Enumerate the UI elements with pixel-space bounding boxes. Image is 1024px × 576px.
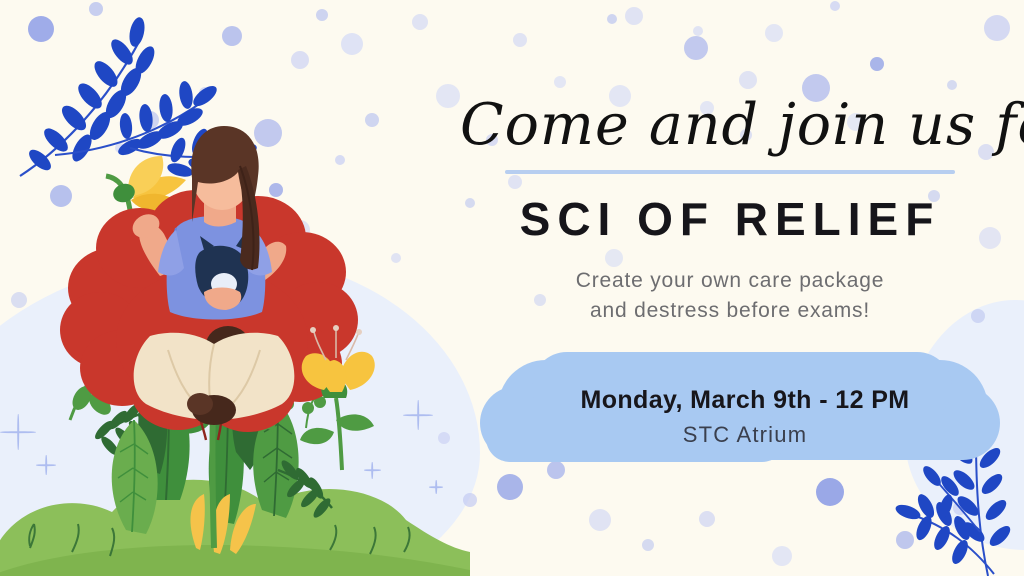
decorative-dot [589,509,611,531]
decorative-dot [870,57,884,71]
event-headline: SCI OF RELIEF [460,192,1000,246]
divider-rule [505,170,955,174]
decorative-dot [830,1,840,11]
decorative-dot [772,546,792,566]
subtitle-line-1: Create your own care package [460,266,1000,296]
decorative-dot [947,80,957,90]
decorative-dot [699,511,715,527]
floral-meditation-illustration [0,0,470,576]
decorative-dot [816,478,844,506]
banner-text: Monday, March 9th - 12 PM STC Atrium [480,352,1010,482]
decorative-dot [607,14,617,24]
subtitle-line-2: and destress before exams! [460,296,1000,326]
decorative-dot [984,15,1010,41]
event-venue: STC Atrium [683,422,807,448]
decorative-dot [554,76,566,88]
text-column: Come and join us for: SCI OF RELIEF Crea… [460,96,1000,327]
event-date: Monday, March 9th - 12 PM [580,386,909,415]
decorative-dot [739,71,757,89]
decorative-dot [684,36,708,60]
script-title: Come and join us for: [460,96,1000,156]
decorative-dot [642,539,654,551]
date-venue-banner: Monday, March 9th - 12 PM STC Atrium [480,352,1010,482]
event-poster: Come and join us for: SCI OF RELIEF Crea… [0,0,1024,576]
event-subtitle: Create your own care package and destres… [460,266,1000,327]
decorative-dot [513,33,527,47]
decorative-dot [693,26,703,36]
decorative-dot [765,24,783,42]
decorative-dot [625,7,643,25]
